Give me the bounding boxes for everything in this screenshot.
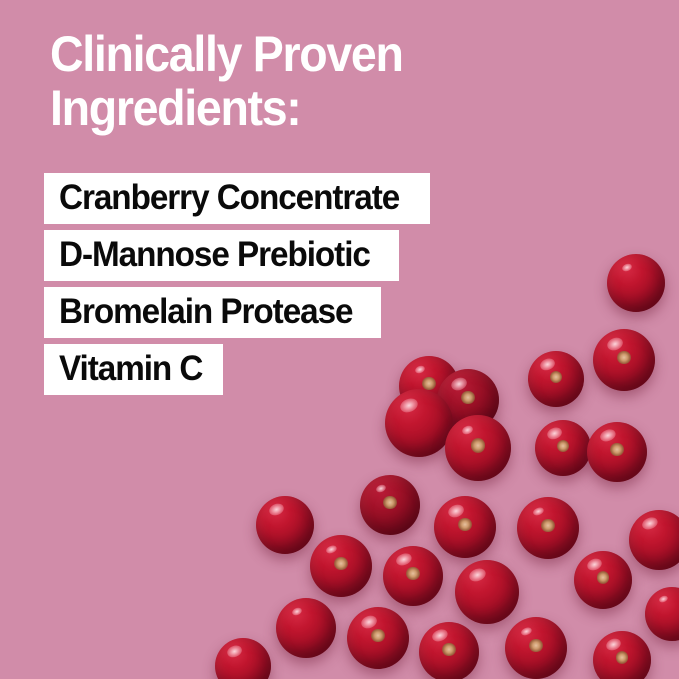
ingredient-label: Bromelain Protease [59,293,353,330]
ingredient-label: D-Mannose Prebiotic [59,236,370,273]
ingredient-label: Vitamin C [59,350,202,387]
list-item: Cranberry Concentrate [44,173,430,224]
content-layer: Clinically Proven Ingredients: Cranberry… [0,0,679,679]
ingredient-list: Cranberry Concentrate D-Mannose Prebioti… [44,173,430,401]
ingredient-label: Cranberry Concentrate [59,179,399,216]
promotional-graphic: Clinically Proven Ingredients: Cranberry… [0,0,679,679]
page-title: Clinically Proven Ingredients: [50,28,552,135]
list-item: D-Mannose Prebiotic [44,230,399,281]
list-item: Bromelain Protease [44,287,381,338]
list-item: Vitamin C [44,344,223,395]
